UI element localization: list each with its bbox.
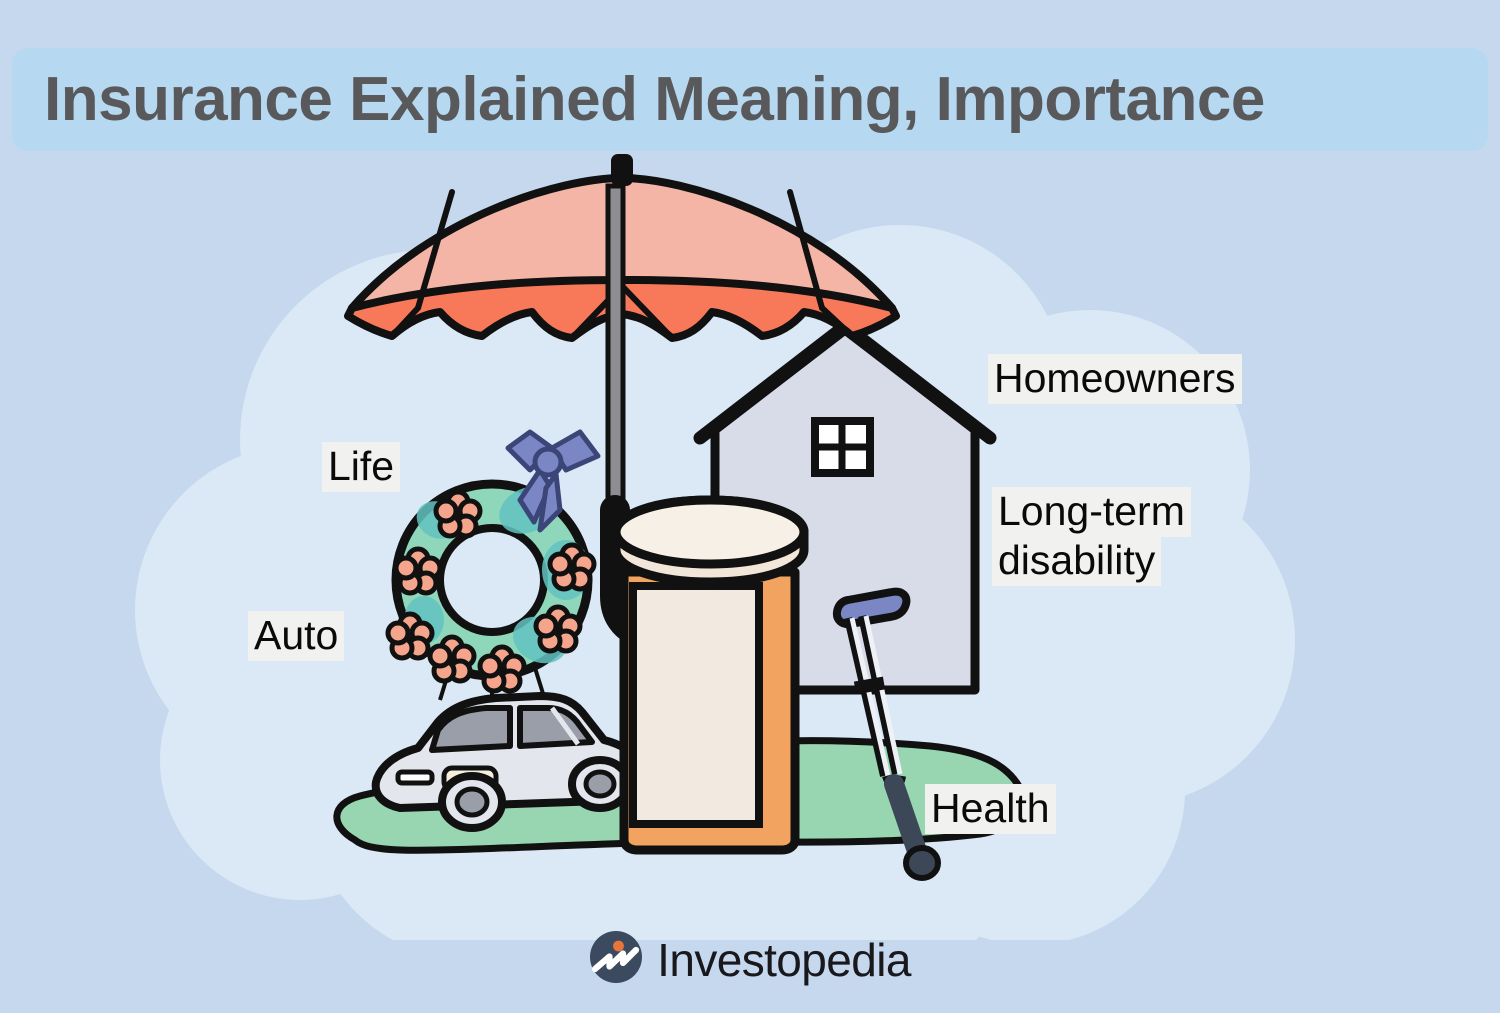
brand-wordmark: Investopedia	[657, 933, 911, 987]
label-health-text: Health	[925, 784, 1056, 834]
label-health: Health	[925, 788, 1056, 829]
label-homeowners: Homeowners	[988, 358, 1242, 399]
title-banner: Insurance Explained Meaning, Importance	[12, 48, 1488, 151]
illustration-stage	[0, 140, 1500, 940]
label-life: Life	[322, 446, 400, 487]
label-auto: Auto	[248, 615, 344, 656]
label-long-term-line1: Long-term	[992, 487, 1191, 537]
infographic-page: Insurance Explained Meaning, Importance	[0, 0, 1500, 1013]
label-auto-text: Auto	[248, 611, 344, 661]
label-long-term-line2: disability	[992, 536, 1161, 586]
label-homeowners-text: Homeowners	[988, 354, 1242, 404]
label-life-text: Life	[322, 442, 400, 492]
label-long-term-disability: Long-term disability	[992, 491, 1191, 581]
brand-footer: Investopedia	[0, 930, 1500, 989]
investopedia-logo-icon	[589, 930, 643, 989]
pill-bottle-icon	[616, 500, 804, 850]
page-title: Insurance Explained Meaning, Importance	[44, 64, 1265, 135]
